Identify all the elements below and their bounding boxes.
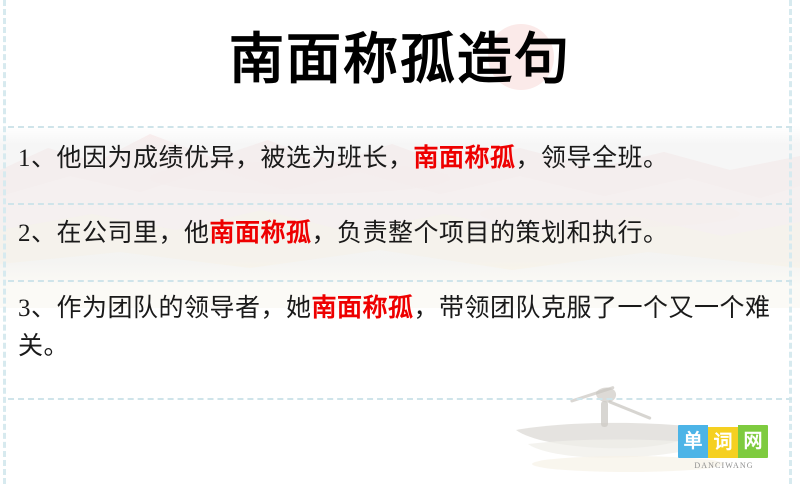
sentence-index: 2、: [18, 220, 57, 247]
sentence-text-before: 他因为成绩优异，被选为班长，: [57, 145, 414, 172]
page-title: 南面称孤造句: [0, 28, 800, 91]
site-logo[interactable]: 单 词 网 DANCIWANG: [678, 424, 778, 476]
divider-rule-1: [8, 203, 792, 205]
idiom-highlight: 南面称孤: [414, 145, 516, 172]
sentence-text-after: ，领导全班。: [516, 145, 669, 172]
sentence-text-before: 作为团队的领导者，她: [57, 295, 312, 322]
list-item: 1、他因为成绩优异，被选为班长，南面称孤，领导全班。: [18, 140, 782, 178]
sentence-index: 3、: [18, 295, 57, 322]
list-item: 2、在公司里，他南面称孤，负责整个项目的策划和执行。: [18, 215, 782, 253]
sentence-text-after: ，负责整个项目的策划和执行。: [312, 220, 669, 247]
divider-rule-top: [8, 126, 792, 128]
logo-char-dan: 单: [678, 425, 708, 458]
logo-caption: DANCIWANG: [678, 461, 770, 470]
logo-panels: 单 词 网: [678, 424, 770, 458]
idiom-highlight: 南面称孤: [210, 220, 312, 247]
list-item: 3、作为团队的领导者，她南面称孤，带领团队克服了一个又一个难关。: [18, 290, 782, 366]
sentence-text-before: 在公司里，他: [57, 220, 210, 247]
sentence-index: 1、: [18, 145, 57, 172]
slide-canvas: 南面称孤造句 1、他因为成绩优异，被选为班长，南面称孤，领导全班。 2、在公司里…: [0, 0, 800, 484]
logo-char-ci: 词: [708, 427, 738, 458]
divider-rule-2: [8, 280, 792, 282]
logo-char-wang: 网: [738, 425, 768, 458]
idiom-highlight: 南面称孤: [312, 295, 414, 322]
divider-rule-bottom: [8, 398, 792, 400]
